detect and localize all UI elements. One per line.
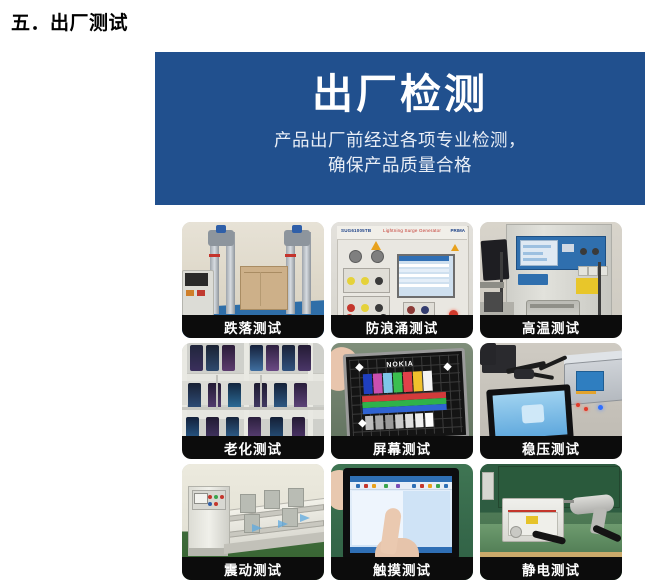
test-card-surge[interactable]: SUG61005TB Lightning Surge Generator PRI… xyxy=(331,222,473,338)
page-title: 五．出厂测试 xyxy=(11,8,128,35)
card-label-drop: 跌落测试 xyxy=(182,315,324,338)
surge-brand-text: PRIMA xyxy=(451,228,466,233)
card-label-high-temperature: 高温测试 xyxy=(480,315,622,338)
banner-subtitle-line-2: 确保产品质量合格 xyxy=(274,153,526,178)
test-card-drop[interactable]: 跌落测试 xyxy=(182,222,324,338)
test-card-aging[interactable]: 老化测试 xyxy=(182,343,324,459)
nokia-brand-text: NOKIA xyxy=(386,361,414,369)
test-card-touch[interactable]: 触摸测试 xyxy=(331,464,473,580)
card-label-surge: 防浪涌测试 xyxy=(331,315,473,338)
surge-title-text: Lightning Surge Generator xyxy=(383,228,441,233)
banner-title: 出厂检测 xyxy=(312,73,488,116)
card-label-screen: 屏幕测试 xyxy=(331,436,473,459)
card-label-esd: 静电测试 xyxy=(480,557,622,580)
card-label-voltage-regulation: 稳压测试 xyxy=(480,436,622,459)
test-card-voltage-regulation[interactable]: 稳压测试 xyxy=(480,343,622,459)
banner-subtitle-line-1: 产品出厂前经过各项专业检测， xyxy=(274,128,526,153)
nokia-tablet: NOKIA xyxy=(343,348,470,444)
test-card-vibration[interactable]: 震动测试 xyxy=(182,464,324,580)
surge-model-text: SUG61005TB xyxy=(341,228,371,233)
test-card-high-temperature[interactable]: 高温测试 xyxy=(480,222,622,338)
factory-inspection-banner: 出厂检测 产品出厂前经过各项专业检测， 确保产品质量合格 xyxy=(155,52,645,205)
banner-subtitle: 产品出厂前经过各项专业检测， 确保产品质量合格 xyxy=(274,128,526,179)
test-card-screen[interactable]: NOKIA xyxy=(331,343,473,459)
test-card-esd[interactable]: 静电测试 xyxy=(480,464,622,580)
card-label-aging: 老化测试 xyxy=(182,436,324,459)
test-card-grid: 跌落测试 SUG61005TB Lightning Surge Generato… xyxy=(182,222,622,580)
card-label-touch: 触摸测试 xyxy=(331,557,473,580)
card-label-vibration: 震动测试 xyxy=(182,557,324,580)
